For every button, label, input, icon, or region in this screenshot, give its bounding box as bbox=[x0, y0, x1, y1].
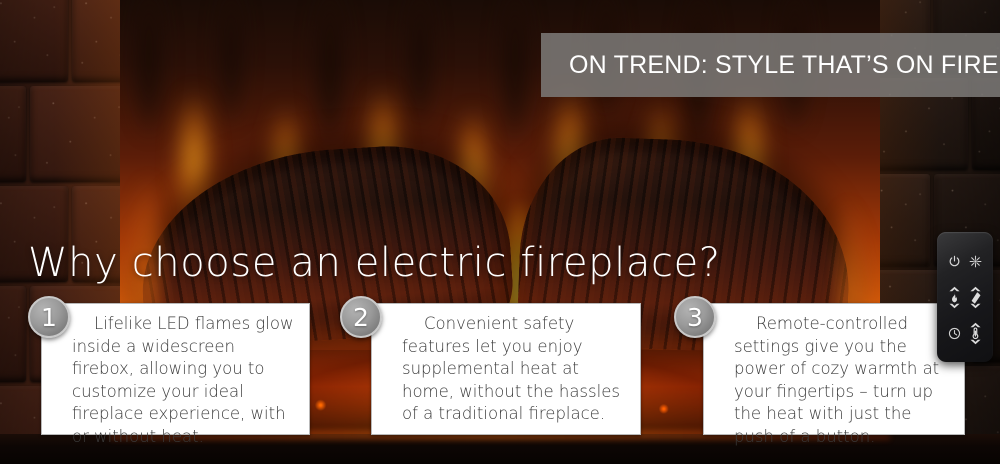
page-title: Why choose an electric fireplace? bbox=[28, 243, 721, 283]
feature-card-text: Lifelike LED flames glow inside a widesc… bbox=[72, 314, 293, 446]
fan-icon bbox=[969, 255, 982, 268]
remote-timer-button bbox=[948, 327, 961, 340]
feature-card-number-badge: 3 bbox=[674, 296, 716, 338]
timer-icon bbox=[948, 327, 961, 340]
banner-title: ON TREND: STYLE THAT’S ON FIRE bbox=[541, 51, 999, 80]
remote-temperature-adjust-button bbox=[969, 322, 982, 345]
feature-card-text: Remote-controlled settings give you the … bbox=[734, 314, 939, 446]
feature-card-text-wrapper: Remote-controlled settings give you the … bbox=[704, 304, 964, 449]
feature-card-text: Convenient safety features let you enjoy… bbox=[402, 314, 620, 423]
remote-flame-adjust-button bbox=[948, 286, 961, 309]
chevron-down-icon bbox=[949, 303, 960, 309]
feature-card-text-wrapper: Lifelike LED flames glow inside a widesc… bbox=[42, 304, 309, 449]
feature-card: Convenient safety features let you enjoy… bbox=[371, 303, 641, 435]
chevron-down-icon bbox=[970, 339, 981, 345]
feature-card: Lifelike LED flames glow inside a widesc… bbox=[41, 303, 310, 435]
feature-card: Remote-controlled settings give you the … bbox=[703, 303, 965, 435]
remote-power-button bbox=[948, 255, 961, 268]
power-icon bbox=[948, 255, 961, 268]
remote-button-grid bbox=[944, 243, 986, 351]
chevron-down-icon bbox=[970, 303, 981, 309]
on-trend-banner: ON TREND: STYLE THAT’S ON FIRE bbox=[541, 33, 1000, 97]
remote-brightness-adjust-button bbox=[969, 286, 982, 309]
promo-banner-image: ON TREND: STYLE THAT’S ON FIRE Why choos… bbox=[0, 0, 1000, 464]
remote-fan-button bbox=[969, 255, 982, 268]
feature-card-text-wrapper: Convenient safety features let you enjoy… bbox=[372, 304, 640, 426]
feature-card-number-badge: 2 bbox=[340, 296, 382, 338]
feature-card-number-badge: 1 bbox=[28, 296, 70, 338]
fireplace-remote-control bbox=[937, 232, 993, 362]
